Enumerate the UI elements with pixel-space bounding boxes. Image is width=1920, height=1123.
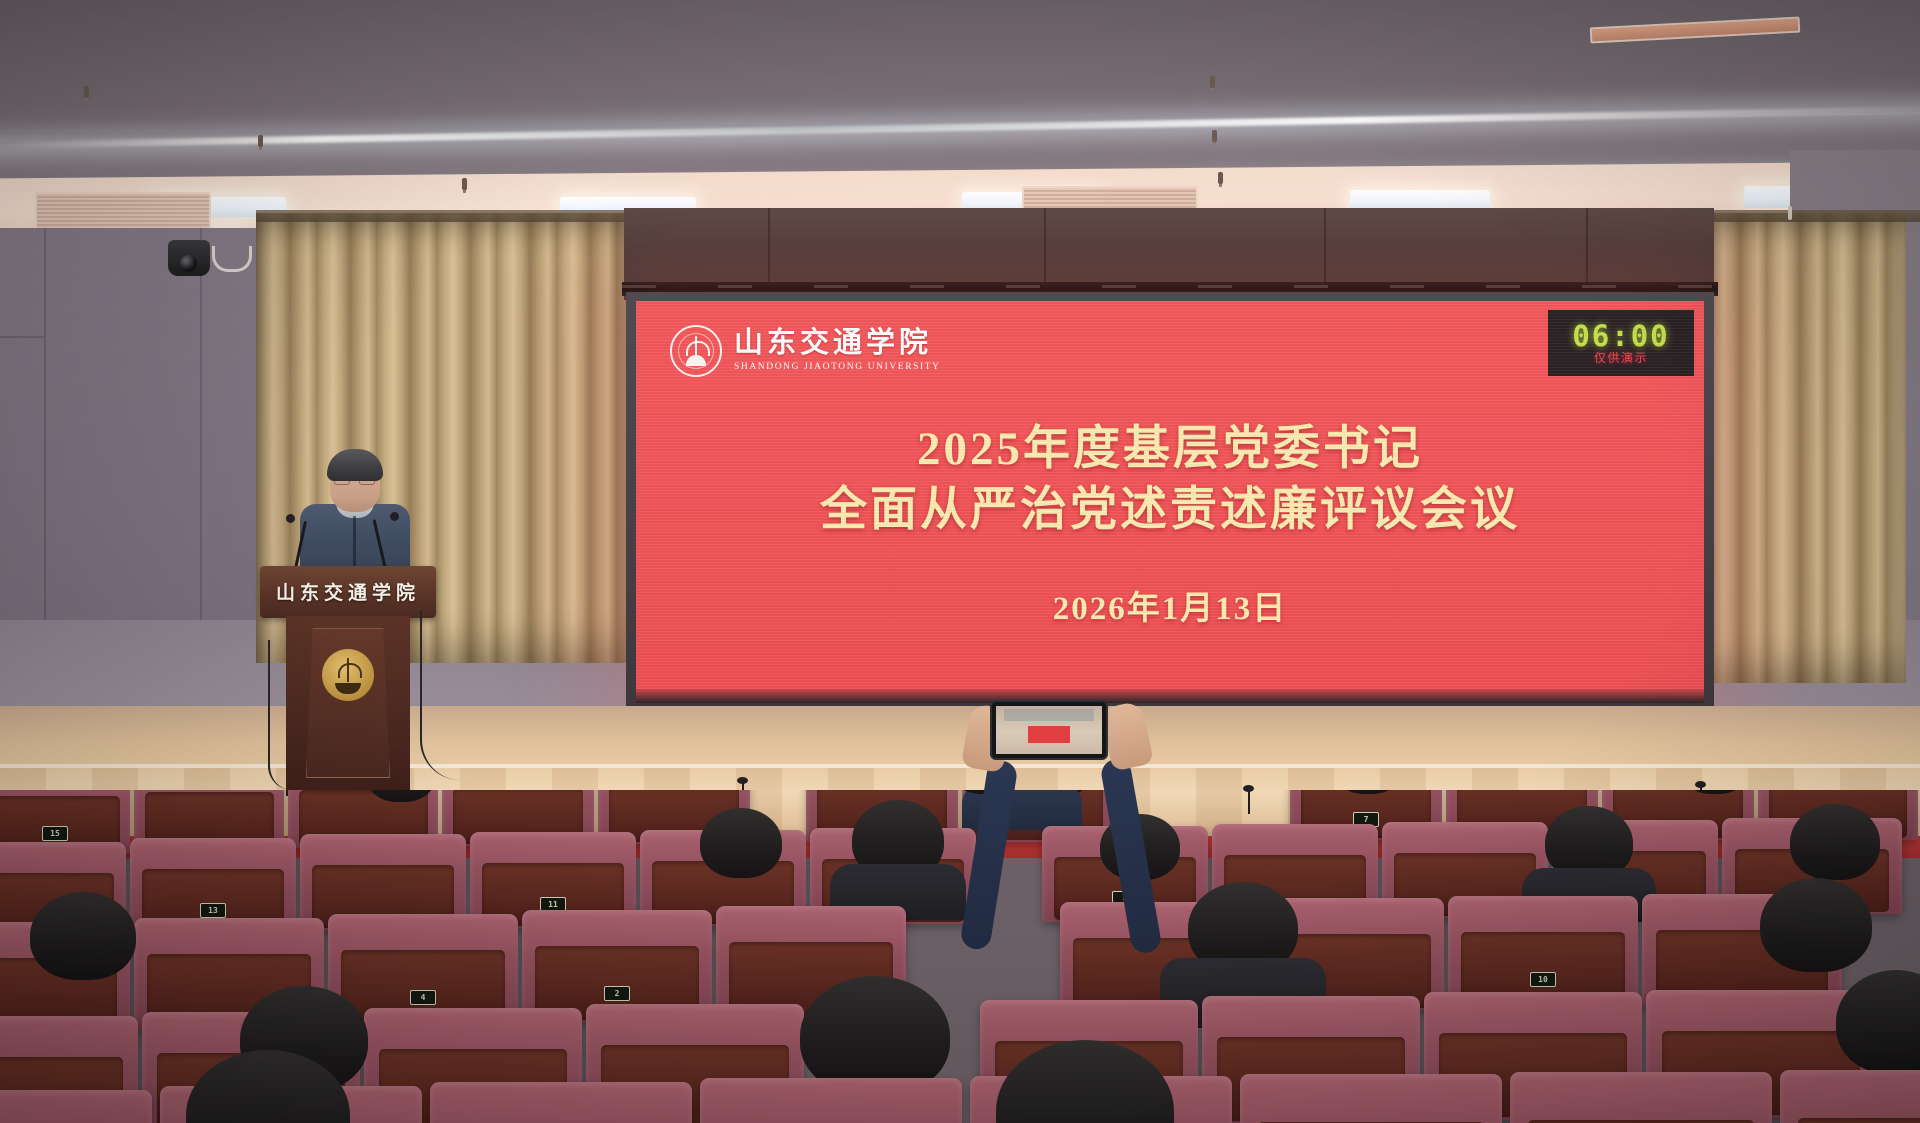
seat-number-plate: 10 bbox=[1530, 972, 1556, 987]
audience-head bbox=[1836, 970, 1920, 1074]
lectern-body bbox=[286, 616, 410, 796]
photographer-arm-left bbox=[959, 759, 1018, 951]
audience-photographer bbox=[930, 700, 1190, 980]
podium-microphone-head-left bbox=[286, 514, 295, 523]
lectern-inlay-panel bbox=[306, 628, 390, 778]
seat[interactable] bbox=[1510, 1072, 1772, 1123]
countdown-time: 06:00 bbox=[1572, 322, 1669, 351]
sprinkler-head bbox=[258, 135, 263, 147]
seat[interactable] bbox=[1240, 1074, 1502, 1123]
headline-line-2: 全面从严治党述责述廉评议会议 bbox=[636, 480, 1704, 541]
lectern-nameplate: 山东交通学院 bbox=[260, 578, 436, 605]
curtain-track-right bbox=[1706, 210, 1920, 222]
stage-curtain-right bbox=[1706, 213, 1906, 683]
logo-name-en: SHANDONG JIAOTONG UNIVERSITY bbox=[734, 363, 941, 373]
audience-head bbox=[1790, 804, 1880, 880]
wall-seam bbox=[0, 336, 44, 338]
sprinkler-head bbox=[1210, 76, 1215, 88]
countdown-note: 仅供演示 bbox=[1594, 352, 1648, 364]
audience-head bbox=[1760, 878, 1872, 972]
university-logo: 山东交通学院 SHANDONG JIAOTONG UNIVERSITY bbox=[670, 325, 941, 377]
seat[interactable] bbox=[0, 1090, 152, 1123]
seat-number-plate: 4 bbox=[410, 990, 436, 1005]
countdown-timer-panel: 06:00 仅供演示 bbox=[1548, 310, 1694, 376]
panel-seam bbox=[1586, 208, 1588, 282]
screen-headline: 2025年度基层党委书记 全面从严治党述责述廉评议会议 bbox=[636, 419, 1704, 541]
logo-name-cn: 山东交通学院 bbox=[734, 329, 941, 358]
podium-cable bbox=[268, 640, 292, 790]
seat[interactable] bbox=[430, 1082, 692, 1123]
crest-base-icon bbox=[335, 683, 361, 694]
air-vent bbox=[35, 192, 211, 232]
lectern-crest-icon bbox=[322, 649, 374, 701]
curtain-hook bbox=[1788, 206, 1792, 220]
seat-back bbox=[1798, 1118, 1920, 1123]
university-crest-icon bbox=[670, 325, 722, 377]
camera-cable bbox=[212, 246, 252, 272]
podium-cable bbox=[420, 610, 460, 780]
speaker-eye-right bbox=[359, 477, 375, 485]
speaker-jacket-zip bbox=[353, 516, 356, 566]
sprinkler-head bbox=[84, 86, 89, 98]
led-screen-bezel: 山东交通学院 SHANDONG JIAOTONG UNIVERSITY 06:0… bbox=[626, 292, 1714, 712]
ceiling-panel-light bbox=[1350, 190, 1490, 210]
seat-number-plate: 15 bbox=[42, 826, 68, 841]
led-screen[interactable]: 山东交通学院 SHANDONG JIAOTONG UNIVERSITY 06:0… bbox=[636, 301, 1704, 703]
seat-number-plate: 13 bbox=[200, 903, 226, 918]
audience-head bbox=[700, 808, 782, 878]
sprinkler-head bbox=[1218, 172, 1223, 184]
security-camera-icon bbox=[168, 240, 210, 276]
crest-base-icon bbox=[686, 355, 706, 366]
panel-seam bbox=[1044, 208, 1046, 282]
speaker-eye-left bbox=[334, 477, 350, 485]
lectern-top: 山东交通学院 bbox=[260, 566, 436, 618]
preview-led-screen bbox=[1028, 726, 1070, 743]
sprinkler-head bbox=[462, 178, 467, 190]
sprinkler-head bbox=[1212, 130, 1217, 142]
phone-camera-preview bbox=[996, 706, 1102, 754]
panel-seam bbox=[768, 208, 770, 282]
podium-microphone-head-right bbox=[390, 512, 399, 521]
panel-seam bbox=[1324, 208, 1326, 282]
crest-figure-icon bbox=[347, 658, 349, 682]
seat-number-plate: 2 bbox=[604, 986, 630, 1001]
photographer-arm-right bbox=[1099, 757, 1163, 955]
seat[interactable]: 1 bbox=[700, 1078, 962, 1123]
logo-text-block: 山东交通学院 SHANDONG JIAOTONG UNIVERSITY bbox=[734, 329, 941, 373]
headline-line-1: 2025年度基层党委书记 bbox=[636, 419, 1704, 480]
screen-date: 2026年1月13日 bbox=[636, 581, 1704, 629]
auditorium-photo: 山东交通学院 SHANDONG JIAOTONG UNIVERSITY 06:0… bbox=[0, 0, 1920, 1123]
preview-ceiling bbox=[1004, 709, 1093, 721]
curtain-track-left bbox=[256, 210, 628, 222]
audience-head bbox=[30, 892, 136, 980]
seat[interactable] bbox=[1780, 1070, 1920, 1123]
smartphone[interactable] bbox=[990, 700, 1108, 760]
